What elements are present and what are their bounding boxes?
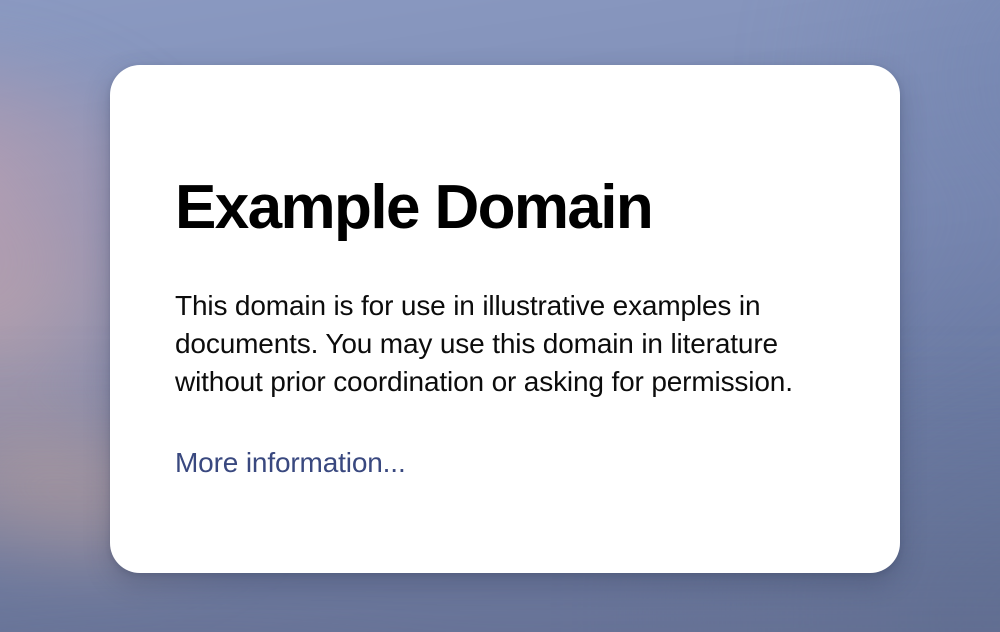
more-information-row: More information... xyxy=(175,401,852,480)
page-description-paragraph: This domain is for use in illustrative e… xyxy=(175,241,835,401)
content-card: Example Domain This domain is for use in… xyxy=(110,65,900,573)
page-title: Example Domain xyxy=(175,175,852,241)
more-information-link[interactable]: More information... xyxy=(175,447,406,478)
card-content: Example Domain This domain is for use in… xyxy=(175,175,852,480)
